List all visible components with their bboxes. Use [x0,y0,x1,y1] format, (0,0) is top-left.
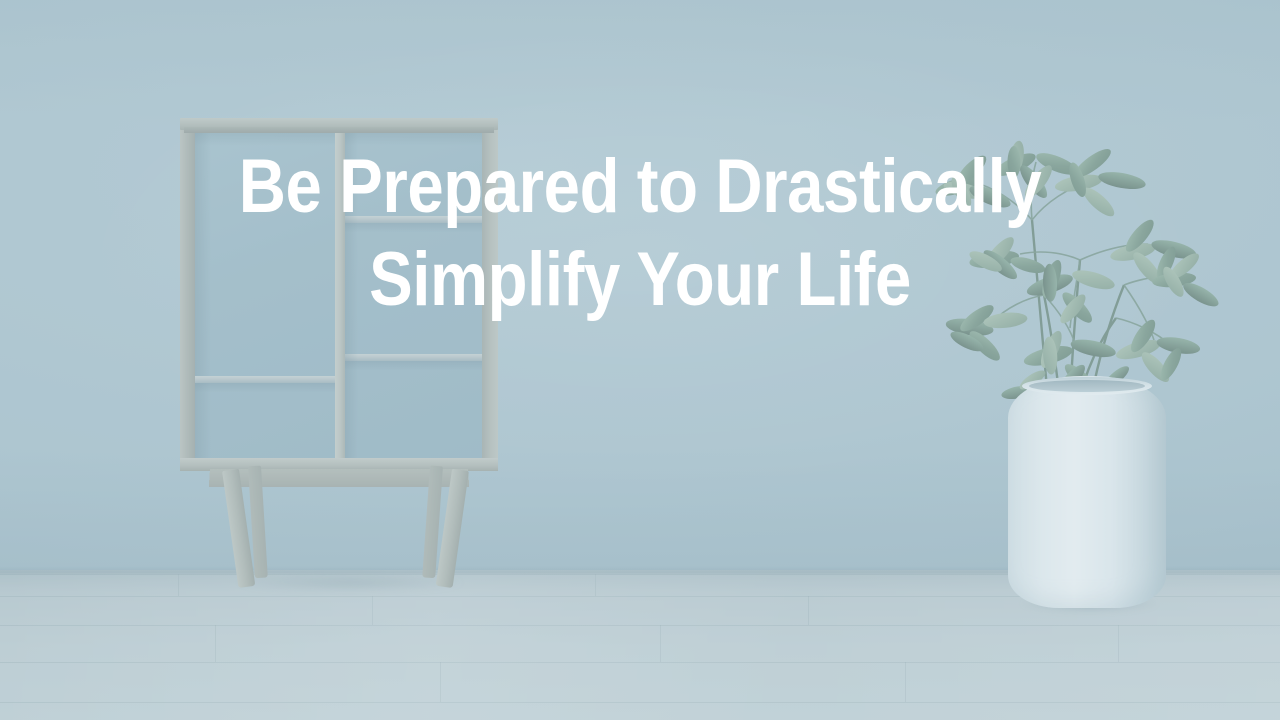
cabinet-shelf-left-shadow [195,383,337,392]
shelving-cabinet [180,118,498,470]
planter-rim-inner [1029,380,1145,392]
slide-canvas: Be Prepared to Drastically Simplify Your… [0,0,1280,720]
cabinet-shelf-right-upper-shadow [340,223,482,232]
cabinet-shelf-left [195,376,337,383]
cabinet-shelf-right-lower [340,354,482,361]
planter-body [1008,376,1166,608]
cabinet-divider-shadow [345,132,358,462]
cabinet-right-panel [482,128,498,462]
ceramic-planter [1008,376,1166,608]
cabinet-left-panel [180,128,195,462]
cabinet-inner-left-shadow [195,132,211,462]
cabinet-top-edge [184,127,494,133]
cabinet-shelf-right-upper [340,216,482,223]
schefflera-houseplant [920,70,1230,415]
cabinet-vertical-divider [335,132,345,462]
cabinet-shelf-right-lower-shadow [340,361,482,370]
